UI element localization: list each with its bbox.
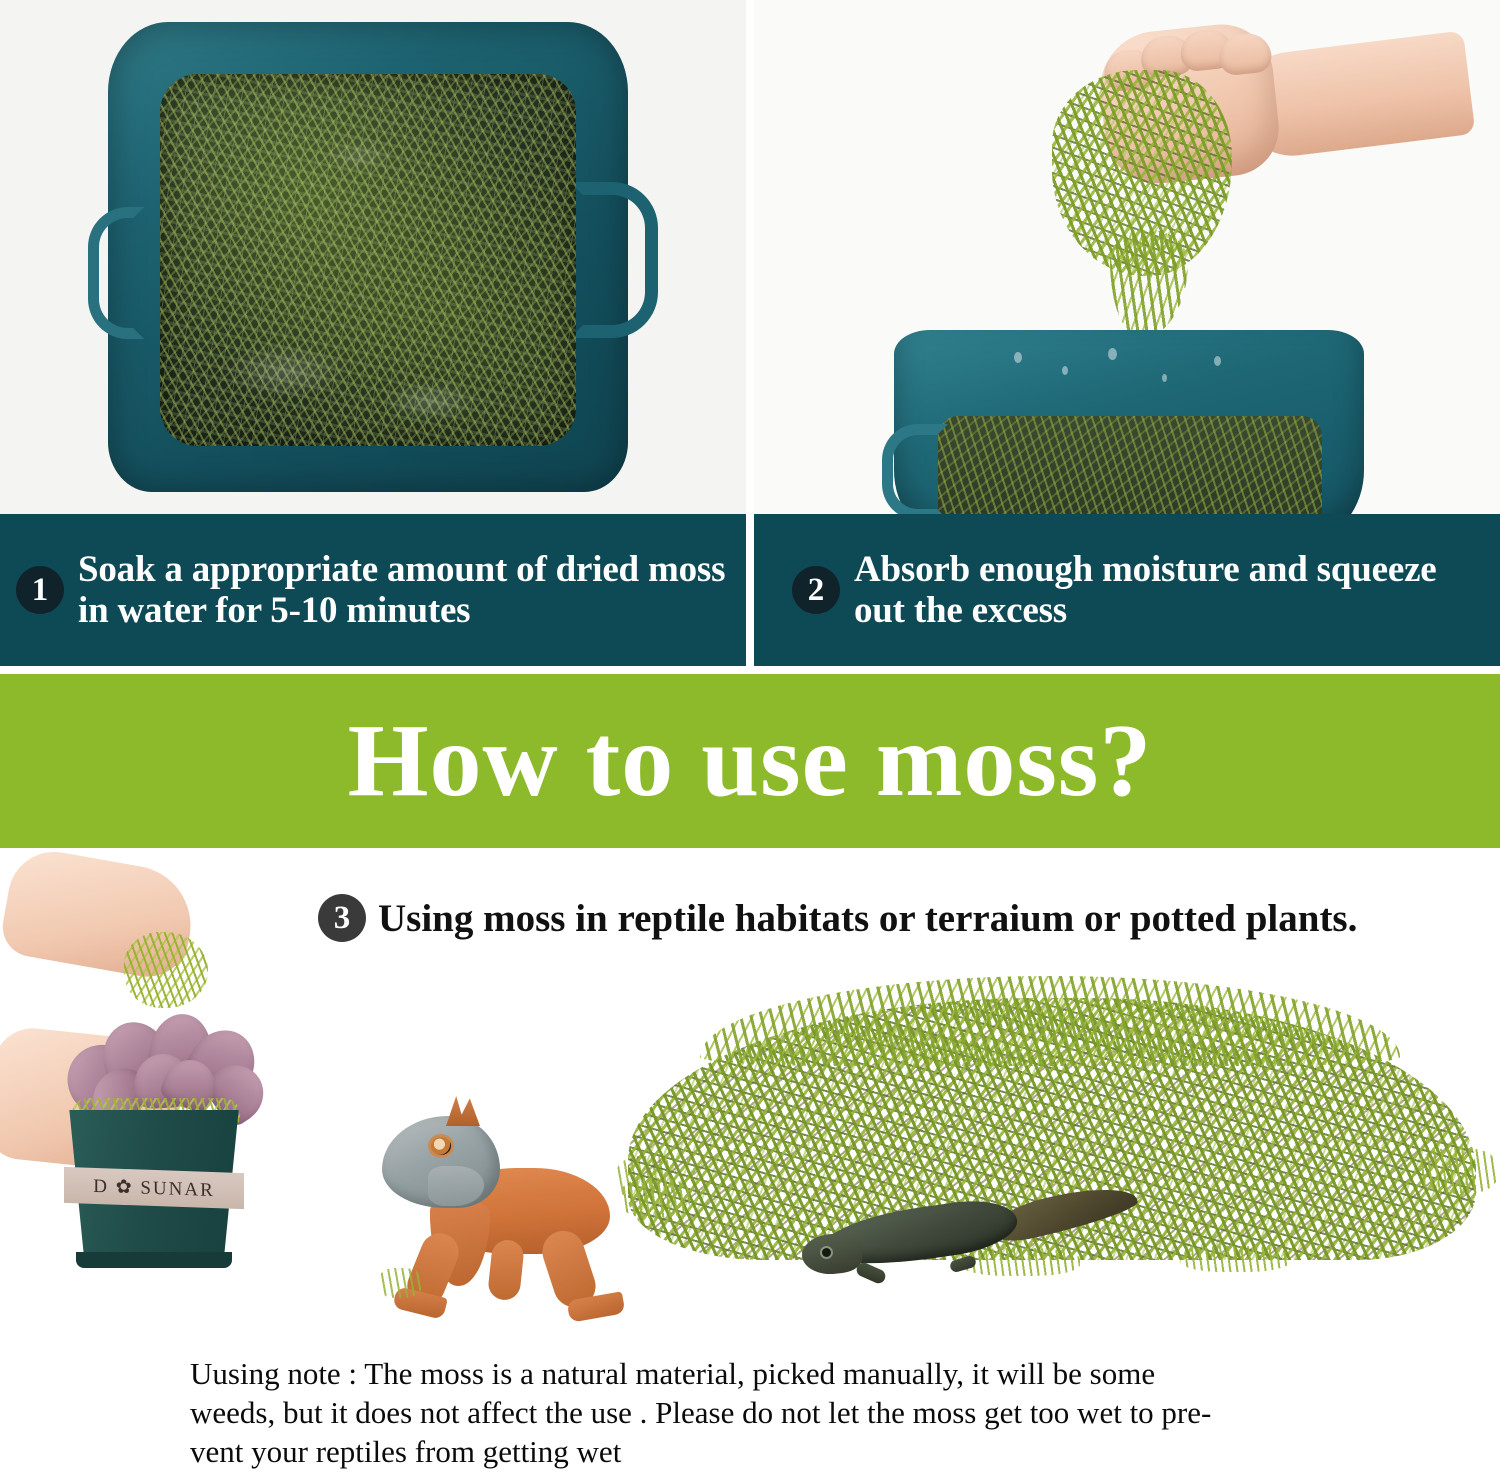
- step2-photo: [754, 0, 1500, 514]
- page-title: How to use moss?: [348, 709, 1153, 813]
- salamander-icon: [800, 1178, 1140, 1298]
- salamander-front-leg-icon: [854, 1261, 887, 1286]
- step-1-banner: 1 Soak a appropriate amount of dried mos…: [0, 514, 746, 666]
- pot-base-icon: [76, 1252, 232, 1268]
- infographic-page: 1 Soak a appropriate amount of dried mos…: [0, 0, 1500, 1477]
- note-line-1: Uusing note : The moss is a natural mate…: [190, 1354, 1350, 1393]
- salamander-head-icon: [800, 1231, 864, 1277]
- step-2-banner: 2 Absorb enough moisture and squeeze out…: [754, 514, 1500, 666]
- soaked-moss-icon: [160, 74, 576, 446]
- step-1-badge: 1: [16, 566, 64, 614]
- step-2-text: Absorb enough moisture and squeeze out t…: [854, 549, 1486, 632]
- moss-tendril-icon: [1418, 1148, 1498, 1194]
- step-3-text: Using moss in reptile habitats or terrai…: [378, 899, 1357, 938]
- salamander-eye-icon: [822, 1248, 831, 1257]
- step1-photo: [0, 0, 746, 514]
- usage-note: Uusing note : The moss is a natural mate…: [190, 1354, 1350, 1471]
- stray-moss-icon: [378, 1268, 422, 1298]
- salamander-hind-leg-icon: [949, 1255, 977, 1274]
- potted-plant-photo: D ✿ SUNAR: [0, 848, 340, 1328]
- iguana-mid-leg-icon: [487, 1238, 525, 1301]
- moss-tendril-icon: [1180, 1246, 1290, 1272]
- step-2-badge: 2: [792, 566, 840, 614]
- pot-brand-text: D ✿ SUNAR: [93, 1174, 215, 1201]
- water-sheen: [160, 74, 576, 446]
- step-banner-row: 1 Soak a appropriate amount of dried mos…: [0, 514, 1500, 666]
- moss-tendril-icon: [620, 1178, 690, 1218]
- basin-small-handle-icon: [882, 424, 948, 514]
- basin-handle-right-icon: [570, 182, 658, 338]
- headline-banner: How to use moss?: [0, 674, 1500, 848]
- hand-squeezing-moss-icon: [1040, 18, 1400, 318]
- bottom-section: 3 Using moss in reptile habitats or terr…: [0, 848, 1500, 1477]
- moss-strands-icon: [1110, 230, 1188, 338]
- iguana-eye-icon: [428, 1134, 454, 1158]
- top-photo-row: [0, 0, 1500, 514]
- pot-label-band: D ✿ SUNAR: [64, 1167, 244, 1209]
- step-1-text: Soak a appropriate amount of dried moss …: [78, 549, 732, 632]
- iguana-crest-icon: [446, 1096, 480, 1126]
- teal-basin-large-icon: [108, 22, 628, 492]
- note-line-2: weeds, but it does not affect the use . …: [190, 1393, 1350, 1432]
- moss-pile-crown-icon: [700, 976, 1400, 1066]
- iguana-photo: [372, 1090, 662, 1340]
- note-line-3: vent your reptiles from getting wet: [190, 1432, 1350, 1471]
- moss-pinch-icon: [124, 932, 208, 1008]
- teal-basin-small-icon: [894, 330, 1364, 514]
- step-3-line: 3 Using moss in reptile habitats or terr…: [318, 894, 1357, 942]
- basin-water-moss: [938, 416, 1322, 514]
- basin-handle-left-icon: [88, 207, 144, 339]
